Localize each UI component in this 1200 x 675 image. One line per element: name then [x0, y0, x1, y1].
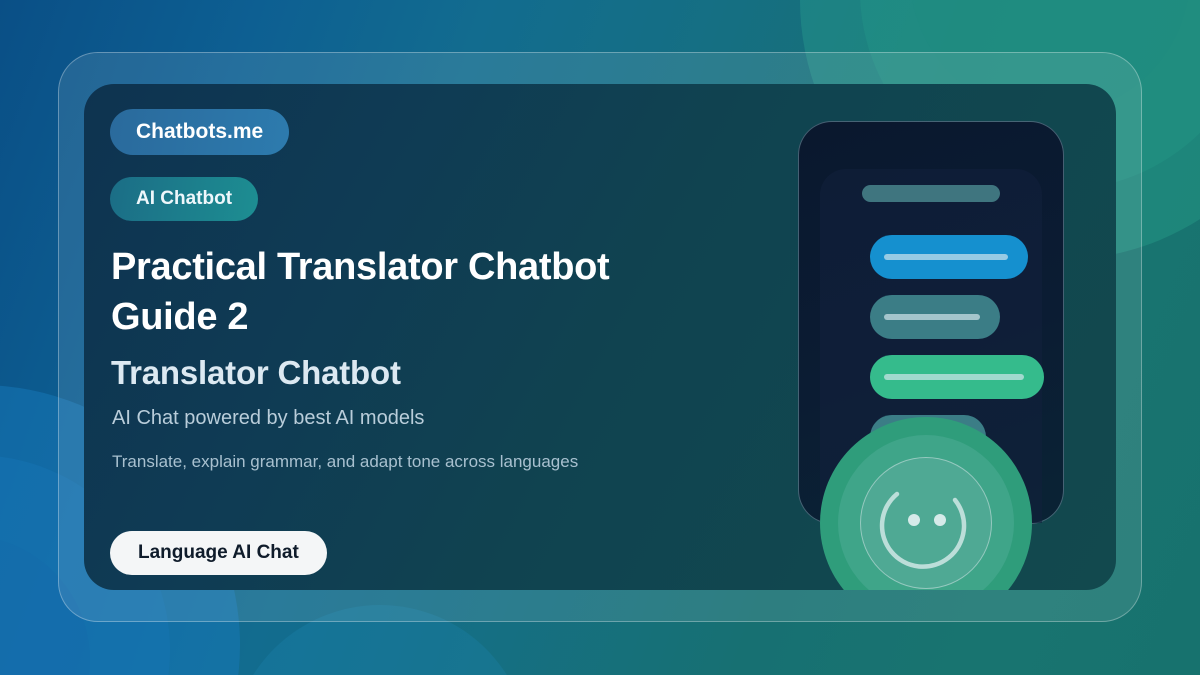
cta-button[interactable]: Language AI Chat	[110, 531, 327, 575]
page-description: Translate, explain grammar, and adapt to…	[112, 449, 712, 475]
hero-card: Chatbots.me AI Chatbot Practical Transla…	[84, 84, 1116, 590]
chat-bubble-green	[870, 355, 1044, 399]
smiley-face-icon	[867, 464, 985, 582]
page-tagline: AI Chat powered by best AI models	[112, 404, 712, 432]
page-subtitle: Translator Chatbot	[111, 352, 711, 394]
category-badge[interactable]: AI Chatbot	[110, 177, 258, 221]
content-column: Chatbots.me AI Chatbot Practical Transla…	[110, 84, 710, 590]
chat-bubble-blue	[870, 235, 1028, 279]
page-title: Practical Translator Chatbot Guide 2	[111, 242, 711, 342]
chat-bubble-muted-1	[870, 295, 1000, 339]
brand-badge[interactable]: Chatbots.me	[110, 109, 289, 155]
phone-status-bar	[862, 185, 1000, 202]
avatar	[820, 417, 1032, 590]
